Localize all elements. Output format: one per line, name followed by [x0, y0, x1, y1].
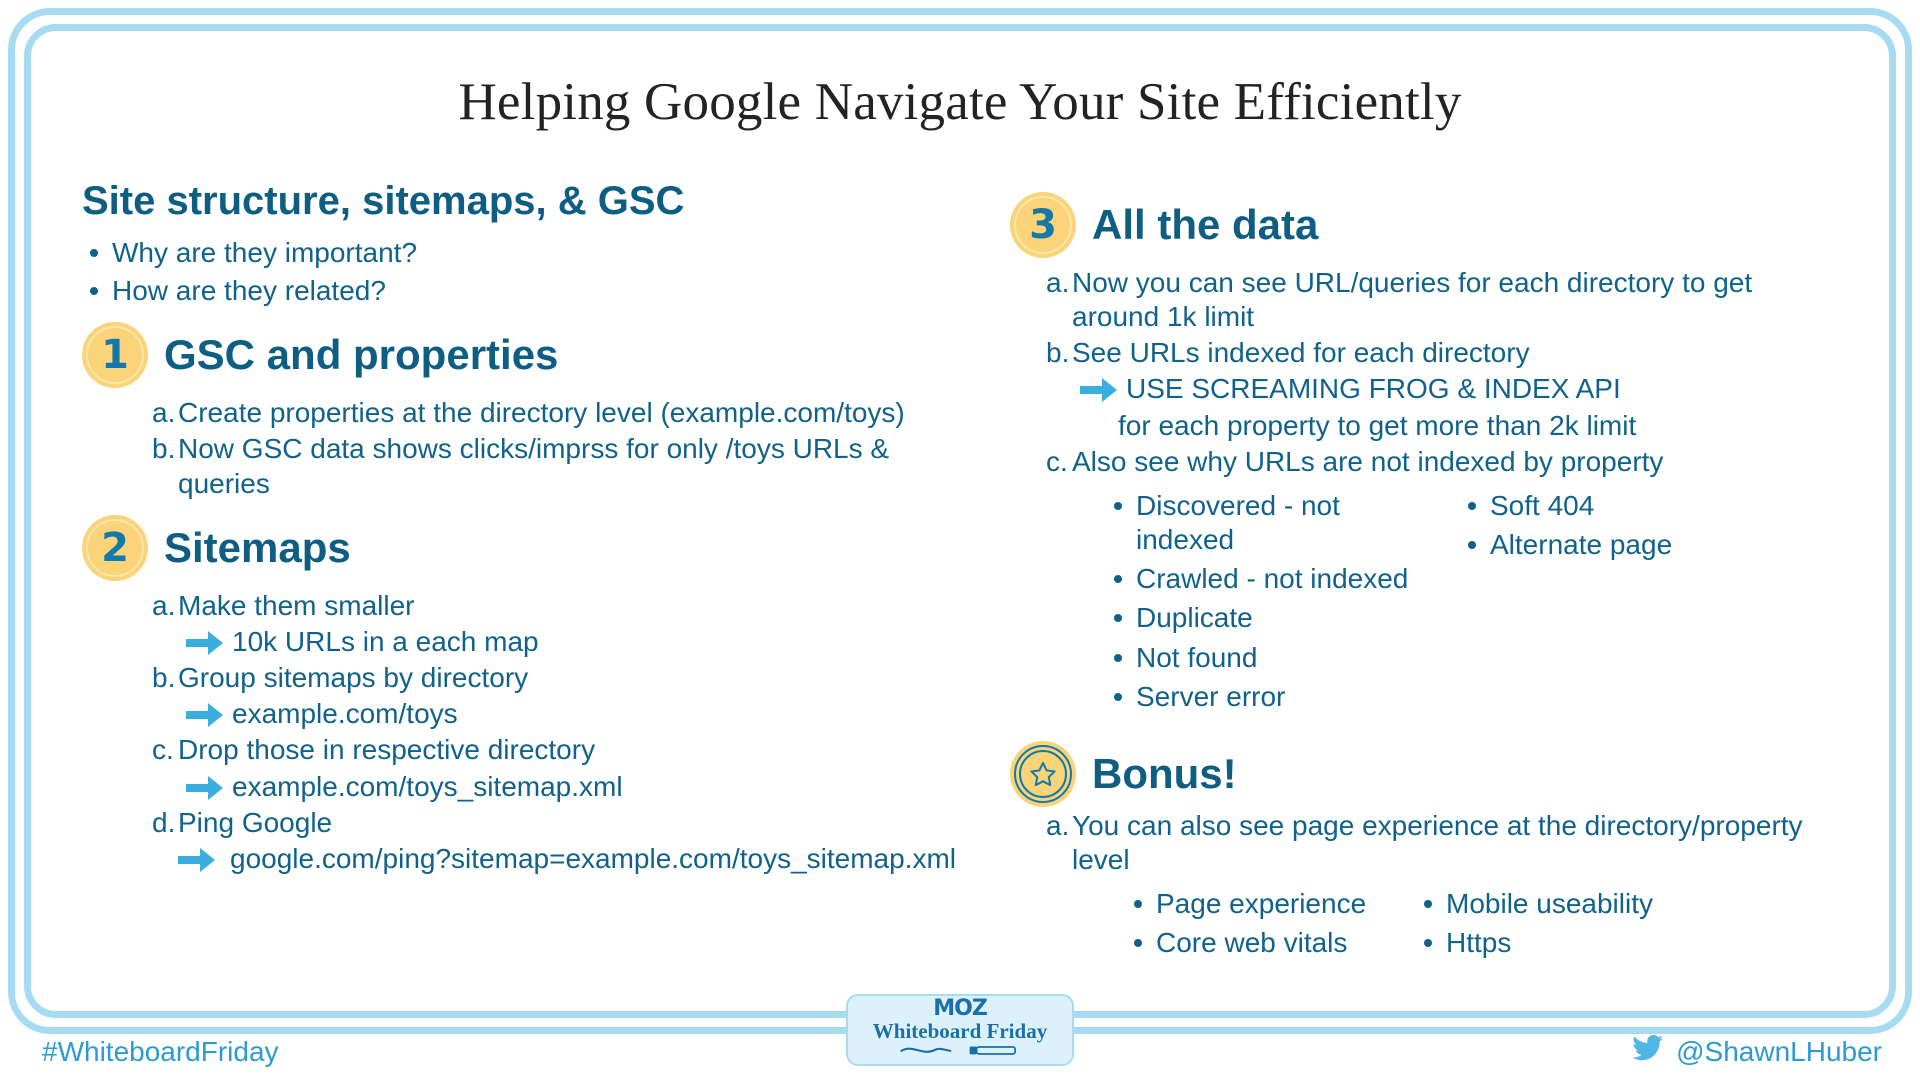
item-letter: d. — [152, 806, 178, 840]
item-letter: b. — [1046, 336, 1072, 370]
item-text: for each property to get more than 2k li… — [1118, 409, 1840, 443]
section-heading-all-the-data: 3 All the data — [1010, 192, 1840, 258]
arrow-sub-item-text: example.com/toys_sitemap.xml — [232, 770, 623, 804]
list-item: c. Also see why URLs are not indexed by … — [1046, 445, 1840, 479]
list-item: d. Ping Google — [152, 806, 982, 840]
section-1-items: a. Create properties at the directory le… — [152, 396, 982, 500]
bonus-column-2: Mobile useability Https — [1416, 887, 1840, 965]
twitter-bird-icon — [1632, 1035, 1664, 1068]
bonus-bullets-grid: Page experience Core web vitals Mobile u… — [1126, 883, 1840, 965]
section-heading-label: All the data — [1092, 201, 1318, 249]
arrow-sub-item-text: 10k URLs in a each map — [232, 625, 539, 659]
list-item: Soft 404 — [1460, 489, 1840, 523]
arrow-right-icon — [186, 773, 224, 803]
arrow-sub-item: google.com/ping?sitemap=example.com/toys… — [178, 842, 982, 876]
item-text: Also see why URLs are not indexed by pro… — [1072, 445, 1840, 479]
list-item: c. Drop those in respective directory — [152, 733, 982, 767]
page-title: Helping Google Navigate Your Site Effici… — [0, 72, 1920, 132]
section-heading-sitemaps: 2 Sitemaps — [82, 515, 982, 581]
badge-label: 3 — [1029, 205, 1057, 245]
list-item: a. You can also see page experience at t… — [1046, 809, 1840, 877]
arrow-sub-item: example.com/toys_sitemap.xml — [186, 770, 982, 804]
list-item: a. Make them smaller — [152, 589, 982, 623]
marker-squiggle-icon — [885, 1043, 1035, 1062]
arrow-sub-item: USE SCREAMING FROG & INDEX API — [1080, 372, 1840, 406]
item-letter: a. — [1046, 809, 1072, 877]
item-text: Now you can see URL/queries for each dir… — [1072, 266, 1840, 334]
section-heading-label: Sitemaps — [164, 524, 351, 572]
left-column: Site structure, sitemaps, & GSC Why are … — [82, 178, 982, 878]
item-text: See URLs indexed for each directory — [1072, 336, 1840, 370]
section-heading-label: GSC and properties — [164, 331, 558, 379]
item-letter: c. — [1046, 445, 1072, 479]
whiteboard-friday-label: Whiteboard Friday — [873, 1021, 1047, 1042]
item-letter: a. — [1046, 266, 1072, 334]
whiteboard-canvas: Helping Google Navigate Your Site Effici… — [0, 0, 1920, 1080]
badge-number-2-icon: 2 — [82, 515, 148, 581]
section-2-items: a. Make them smaller 10k URLs in a each … — [152, 589, 982, 876]
list-item: a. Now you can see URL/queries for each … — [1046, 266, 1840, 334]
item-text: Create properties at the directory level… — [178, 396, 982, 430]
section-heading-label: Bonus! — [1092, 750, 1237, 798]
left-section-title: Site structure, sitemaps, & GSC — [82, 178, 982, 224]
list-item: Server error — [1106, 680, 1436, 714]
footer-hashtag: #WhiteboardFriday — [42, 1036, 279, 1068]
arrow-sub-item-text: google.com/ping?sitemap=example.com/toys… — [230, 842, 956, 876]
arrow-sub-item: example.com/toys — [186, 697, 982, 731]
index-reasons-column-1: Discovered - not indexed Crawled - not i… — [1106, 489, 1436, 719]
index-reasons-grid: Discovered - not indexed Crawled - not i… — [1106, 485, 1840, 719]
list-item: b. See URLs indexed for each directory — [1046, 336, 1840, 370]
item-text: Make them smaller — [178, 589, 982, 623]
arrow-right-icon — [1080, 375, 1118, 405]
bonus-items: a. You can also see page experience at t… — [1046, 809, 1840, 877]
badge-label: 2 — [101, 528, 129, 568]
list-item: Duplicate — [1106, 601, 1436, 635]
list-item: Alternate page — [1460, 528, 1840, 562]
section-heading-gsc-and-properties: 1 GSC and properties — [82, 322, 982, 388]
badge-star-icon — [1010, 741, 1076, 807]
arrow-sub-item-text: USE SCREAMING FROG & INDEX API — [1126, 372, 1621, 406]
list-item: a. Create properties at the directory le… — [152, 396, 982, 430]
moz-whiteboard-friday-logo: MOZ Whiteboard Friday — [846, 994, 1074, 1066]
item-text: Ping Google — [178, 806, 982, 840]
item-text: Group sitemaps by directory — [178, 661, 982, 695]
list-item: b. Now GSC data shows clicks/imprss for … — [152, 432, 982, 500]
footer-handle-label: @ShawnLHuber — [1676, 1036, 1882, 1068]
bonus-column-1: Page experience Core web vitals — [1126, 887, 1392, 965]
arrow-sub-item: 10k URLs in a each map — [186, 625, 982, 659]
footer-twitter-handle: @ShawnLHuber — [1632, 1035, 1882, 1068]
badge-number-3-icon: 3 — [1010, 192, 1076, 258]
list-item: Core web vitals — [1126, 926, 1392, 960]
right-column: 3 All the data a. Now you can see URL/qu… — [1010, 178, 1840, 966]
arrow-sub-item-text: example.com/toys — [232, 697, 458, 731]
item-letter: a. — [152, 396, 178, 430]
section-heading-bonus: Bonus! — [1010, 741, 1840, 807]
item-letter: a. — [152, 589, 178, 623]
item-letter: c. — [152, 733, 178, 767]
item-text: You can also see page experience at the … — [1072, 809, 1840, 877]
badge-number-1-icon: 1 — [82, 322, 148, 388]
list-item: b. Group sitemaps by directory — [152, 661, 982, 695]
index-reasons-column-2: Soft 404 Alternate page — [1460, 489, 1840, 719]
arrow-right-icon — [178, 845, 216, 875]
list-item: Not found — [1106, 641, 1436, 675]
list-item: Crawled - not indexed — [1106, 562, 1436, 596]
item-letter: b. — [152, 661, 178, 695]
list-item: How are they related? — [82, 274, 982, 308]
list-item: Why are they important? — [82, 236, 982, 270]
arrow-right-icon — [186, 700, 224, 730]
arrow-right-icon — [186, 628, 224, 658]
section-3-items: a. Now you can see URL/queries for each … — [1046, 266, 1840, 479]
intro-bullet-list: Why are they important? How are they rel… — [82, 236, 982, 308]
badge-label: 1 — [101, 335, 129, 375]
moz-brand-label: MOZ — [933, 998, 987, 1020]
list-item: Discovered - not indexed — [1106, 489, 1436, 557]
item-text: Now GSC data shows clicks/imprss for onl… — [178, 432, 982, 500]
list-item: Mobile useability — [1416, 887, 1840, 921]
item-text: Drop those in respective directory — [178, 733, 982, 767]
item-letter: b. — [152, 432, 178, 500]
list-item: Https — [1416, 926, 1840, 960]
list-item: Page experience — [1126, 887, 1392, 921]
arrow-sub-item-continuation: for each property to get more than 2k li… — [1118, 409, 1840, 443]
